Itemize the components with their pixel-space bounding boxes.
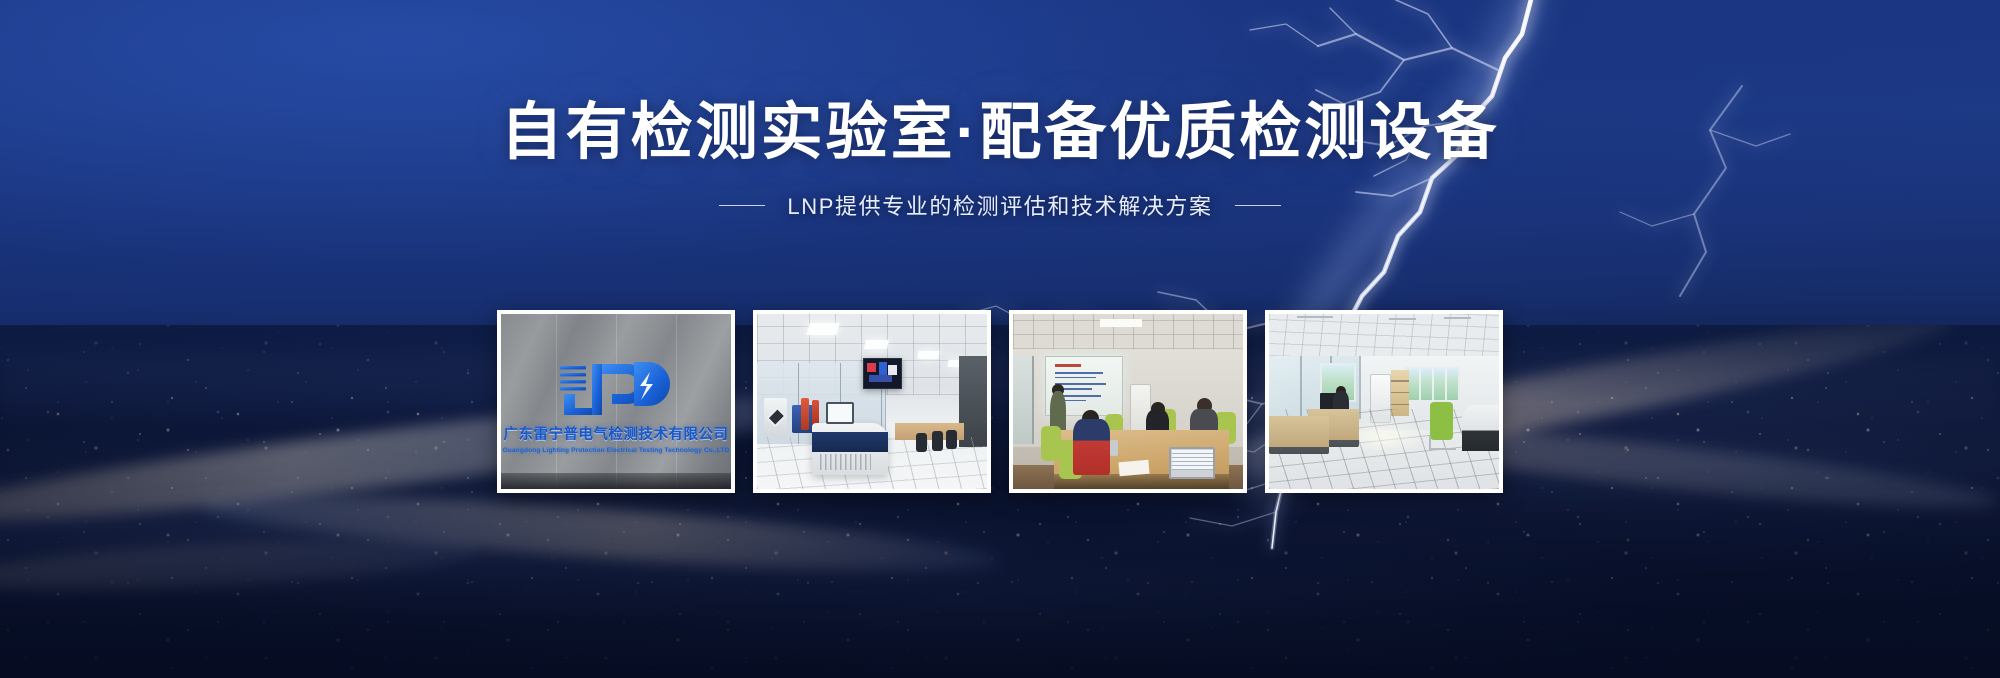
control-console xyxy=(812,423,888,476)
office-ceiling xyxy=(1269,314,1499,356)
slide-text-line xyxy=(1055,372,1102,374)
lab-chair xyxy=(946,430,958,449)
office-window xyxy=(1405,367,1460,402)
gallery-photo-logo-wall[interactable]: 广东雷宁普电气检测技术有限公司 Guangdong Lighting Prote… xyxy=(497,310,735,493)
lab-chair xyxy=(916,433,928,452)
meeting-room-ceiling xyxy=(1013,314,1243,349)
ceiling-vent xyxy=(1444,317,1472,319)
laptop xyxy=(1169,447,1215,479)
ceiling-light xyxy=(1100,319,1141,327)
shelf-board xyxy=(1391,392,1409,394)
ceiling-light xyxy=(864,340,889,349)
shelf-board xyxy=(1391,380,1409,382)
banner-headline: 自有检测实验室·配备优质检测设备 xyxy=(0,96,2000,169)
slide-text-line xyxy=(1055,377,1096,379)
ceiling-light xyxy=(917,351,939,359)
photo-gallery: 广东雷宁普电气检测技术有限公司 Guangdong Lighting Prote… xyxy=(497,310,1503,493)
thermos-cup xyxy=(1110,440,1118,456)
slide-text-line xyxy=(1055,383,1105,385)
glass-door xyxy=(1013,356,1034,444)
wall-mounted-display xyxy=(863,358,902,390)
display-content-block xyxy=(888,365,897,375)
photo-image-meeting-room xyxy=(1013,314,1243,489)
display-content-block xyxy=(879,362,887,376)
company-name-en: Guangdong Lighting Protection Electrical… xyxy=(501,447,731,454)
photo-image-logo-wall: 广东雷宁普电气检测技术有限公司 Guangdong Lighting Prote… xyxy=(501,314,731,489)
hero-banner: 自有检测实验室·配备优质检测设备 LNP提供专业的检测评估和技术解决方案 xyxy=(0,0,2000,678)
rule-left-decoration xyxy=(719,205,765,206)
display-content-block xyxy=(869,375,892,382)
console-monitor xyxy=(826,402,854,425)
hv-bushing xyxy=(801,398,809,430)
documents xyxy=(1118,460,1149,477)
company-name-cn: 广东雷宁普电气检测技术有限公司 xyxy=(501,423,731,444)
photo-image-hv-lab xyxy=(757,314,987,489)
slide-title-bar xyxy=(1055,364,1081,367)
ceiling-vent xyxy=(1389,318,1417,320)
gallery-photo-hv-lab[interactable] xyxy=(753,310,991,493)
console-vents xyxy=(820,454,872,470)
office-chair xyxy=(1430,402,1453,441)
banner-subtitle: LNP提供专业的检测评估和技术解决方案 xyxy=(787,189,1212,221)
lnp-logo-icon xyxy=(556,360,676,416)
rule-right-decoration xyxy=(1235,205,1281,206)
attendee-body xyxy=(1073,419,1110,475)
photo-image-office xyxy=(1269,314,1499,489)
banner-subtitle-row: LNP提供专业的检测评估和技术解决方案 xyxy=(0,189,2000,221)
window-bar xyxy=(1432,369,1434,400)
floor-shadow xyxy=(501,473,731,489)
laptop-screen xyxy=(1172,450,1213,470)
gallery-photo-office[interactable] xyxy=(1265,310,1503,493)
window-bar xyxy=(1445,369,1447,400)
console-band xyxy=(812,432,888,452)
gallery-photo-meeting-room[interactable] xyxy=(1009,310,1247,493)
ceiling-vent xyxy=(1297,316,1334,318)
ceiling-light xyxy=(806,323,839,335)
display-content-block xyxy=(867,363,877,372)
office-desk-top xyxy=(1269,416,1329,448)
shelf-board xyxy=(1391,404,1409,406)
window-bar xyxy=(1419,369,1421,400)
reception-counter xyxy=(1462,405,1499,451)
banner-copy: 自有检测实验室·配备优质检测设备 LNP提供专业的检测评估和技术解决方案 xyxy=(0,96,2000,221)
lab-chair xyxy=(932,431,944,450)
